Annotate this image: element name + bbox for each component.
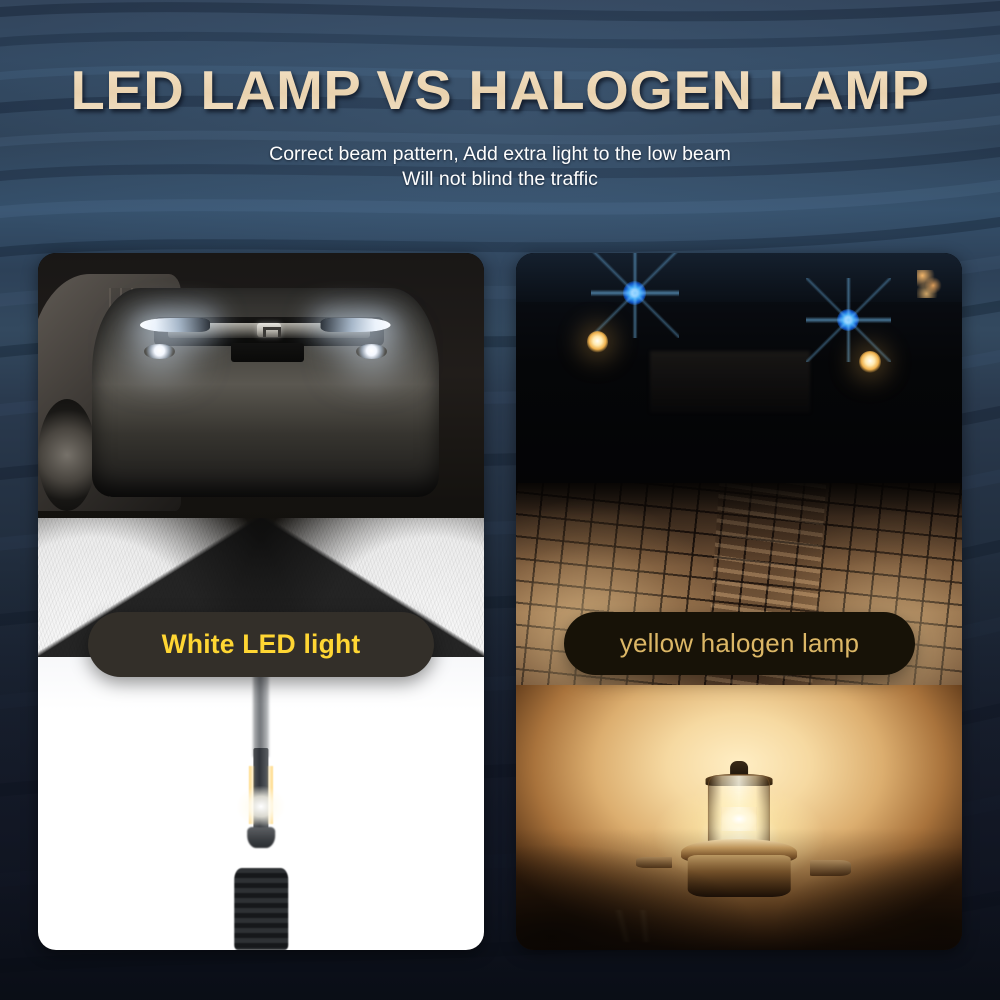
halogen-label-text: yellow halogen lamp bbox=[620, 628, 859, 659]
led-bulb-flare bbox=[236, 786, 285, 827]
led-label-pill[interactable]: White LED light bbox=[88, 612, 434, 677]
subtitle-line-1: Correct beam pattern, Add extra light to… bbox=[0, 120, 1000, 168]
led-bulb-base bbox=[234, 868, 288, 950]
blue-light-left bbox=[623, 281, 646, 305]
amber-light-left bbox=[587, 331, 608, 353]
headlight-left bbox=[140, 318, 210, 331]
poster-canvas: LED LAMP VS HALOGEN LAMP Correct beam pa… bbox=[0, 0, 1000, 1000]
halogen-night-photo bbox=[516, 253, 962, 950]
poster-header: LED LAMP VS HALOGEN LAMP Correct beam pa… bbox=[0, 0, 1000, 193]
halogen-panel[interactable]: yellow halogen lamp bbox=[516, 253, 962, 950]
halogen-label-pill[interactable]: yellow halogen lamp bbox=[564, 612, 915, 675]
car-body bbox=[92, 288, 440, 497]
blue-light-right bbox=[837, 309, 859, 331]
background-car-wheel bbox=[38, 399, 96, 511]
amber-light-right bbox=[859, 351, 880, 373]
background-signboard bbox=[650, 351, 811, 414]
page-title: LED LAMP VS HALOGEN LAMP bbox=[0, 0, 1000, 120]
led-label-text: White LED light bbox=[162, 629, 361, 660]
headlight-right bbox=[321, 318, 391, 331]
led-bulb-photo bbox=[38, 657, 484, 950]
foglight-right bbox=[356, 344, 387, 359]
night-sky-strip bbox=[516, 253, 962, 302]
led-night-photo bbox=[38, 253, 484, 950]
foglight-left bbox=[144, 344, 175, 359]
led-bulb-neck bbox=[247, 827, 275, 847]
distant-lights bbox=[917, 270, 944, 298]
license-plate bbox=[231, 343, 304, 362]
subtitle-line-2: Will not blind the traffic bbox=[0, 167, 1000, 193]
halogen-photo-vignette bbox=[516, 685, 962, 950]
led-panel[interactable]: White LED light bbox=[38, 253, 484, 950]
comparison-panels: White LED light bbox=[38, 253, 962, 950]
honda-emblem-icon bbox=[257, 323, 281, 336]
